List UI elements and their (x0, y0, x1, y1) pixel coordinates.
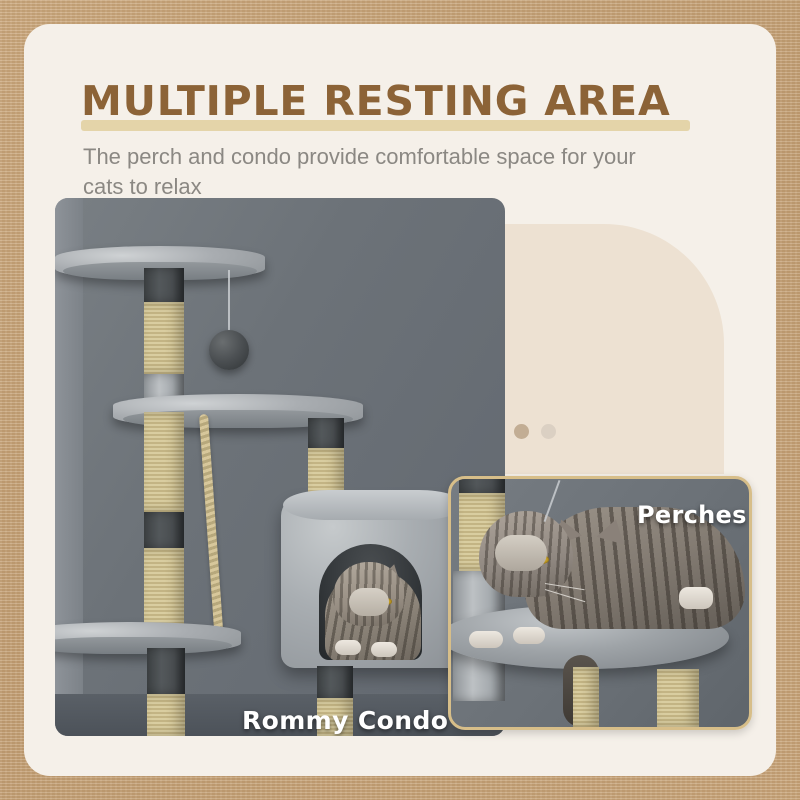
pom-pom-toy (209, 330, 249, 370)
title-block: MULTIPLE RESTING AREA (81, 74, 741, 136)
hanging-rope (199, 414, 224, 644)
poster-card: MULTIPLE RESTING AREA The perch and cond… (24, 24, 776, 776)
toy-string (228, 270, 230, 334)
condo-cat-muzzle (349, 588, 389, 616)
inset-perches-photo: Perches (448, 476, 752, 730)
lower-post-sisal-lower (144, 548, 184, 634)
main-photo-label: Rommy Condo (242, 706, 448, 735)
inset-center-post-sisal (573, 667, 599, 727)
bottom-post-fur (147, 648, 185, 694)
perch-cat-paw-rear (679, 587, 713, 609)
carousel-dot-2[interactable] (514, 424, 529, 439)
perch-cat-paw-front-right (513, 627, 545, 644)
inset-left-post-fur (459, 476, 505, 493)
poster-root: MULTIPLE RESTING AREA The perch and cond… (0, 0, 800, 800)
bottom-post-sisal (147, 694, 185, 736)
upper-post-fur-top (144, 268, 184, 302)
page-title: MULTIPLE RESTING AREA (81, 74, 671, 128)
condo-opening (319, 544, 422, 660)
main-product-photo: Rommy Condo (55, 198, 505, 736)
condo-support-fur (317, 666, 353, 698)
perch-cat-paw-front-left (469, 631, 503, 648)
perch-cat-muzzle (495, 535, 547, 571)
lower-post-fur-mid (144, 512, 184, 548)
right-post-fur-top (308, 418, 344, 448)
upper-post-sisal (144, 302, 184, 374)
wall-shadow (55, 198, 83, 736)
rommy-condo (281, 496, 466, 668)
condo-cat-paw-left (335, 640, 361, 655)
condo-top-rim (283, 490, 464, 520)
inset-photo-label: Perches (637, 501, 747, 529)
page-subtitle: The perch and condo provide comfortable … (83, 142, 663, 202)
inset-toy-string (544, 480, 561, 522)
lower-post-sisal-upper (144, 412, 184, 512)
carousel-dot-3[interactable] (541, 424, 556, 439)
condo-cat-paw-right (371, 642, 397, 657)
inset-right-post-sisal (657, 669, 699, 727)
